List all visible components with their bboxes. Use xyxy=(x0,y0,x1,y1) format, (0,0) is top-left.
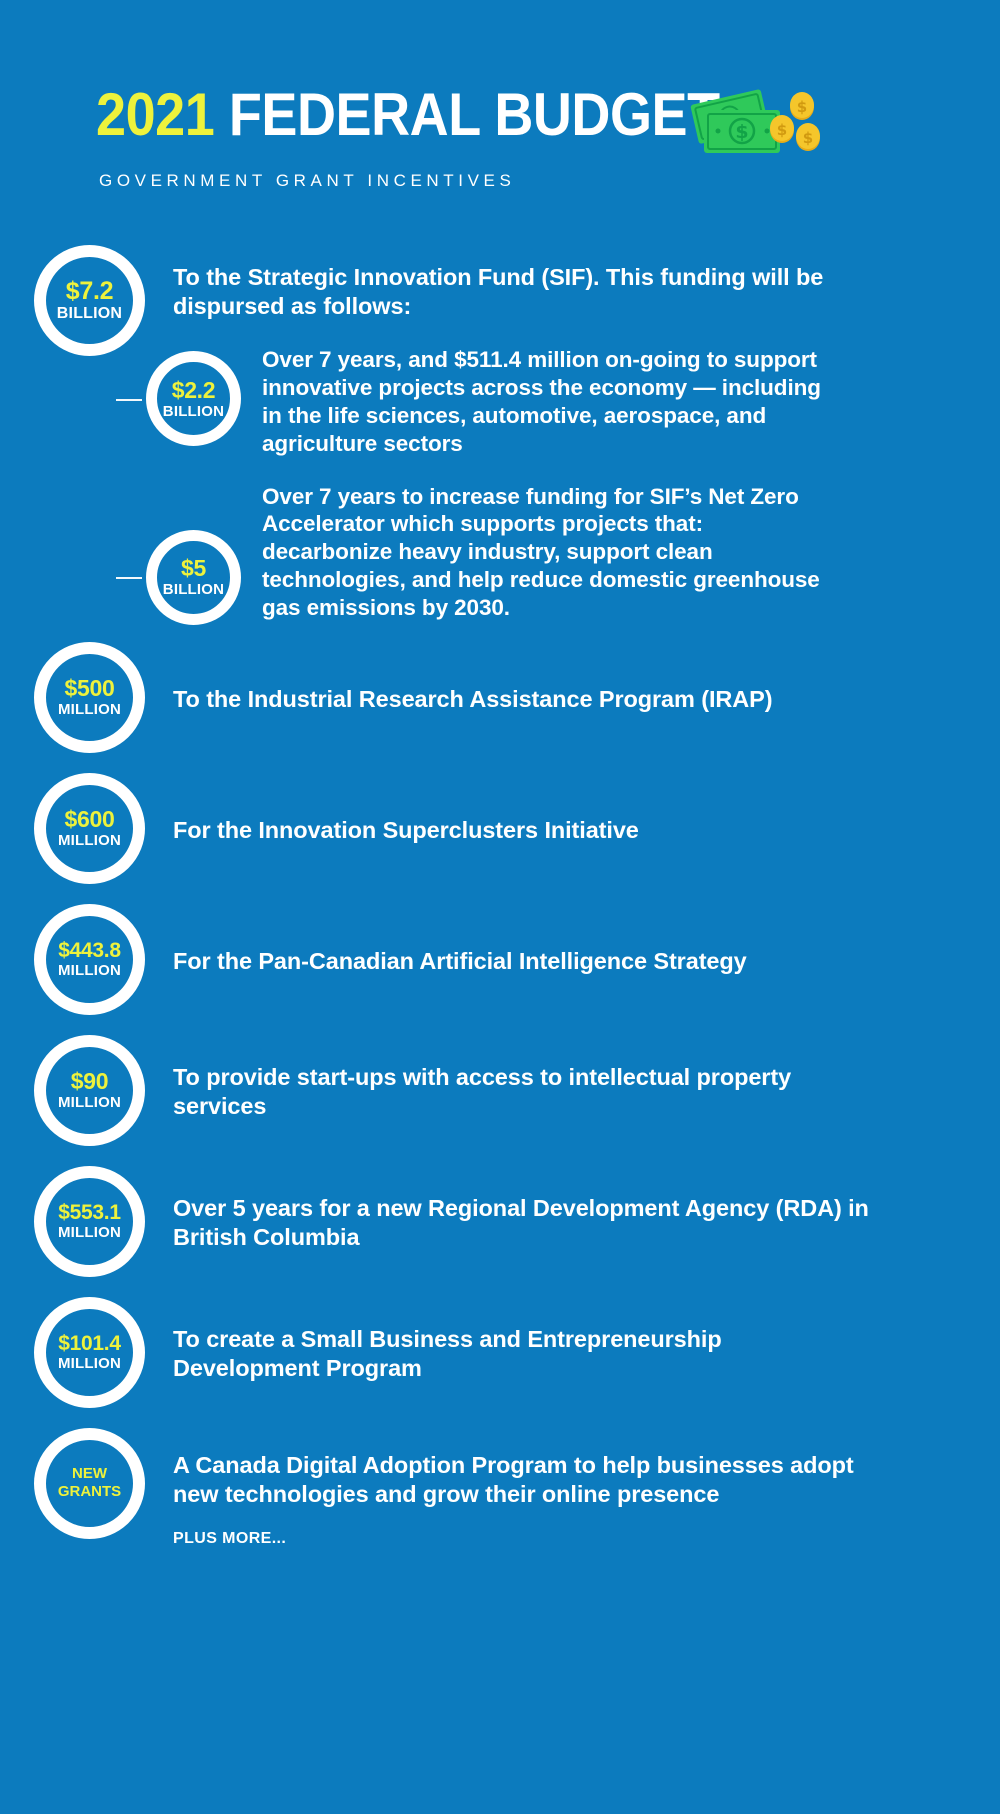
amount-badge: $553.1 MILLION xyxy=(34,1166,145,1277)
amount-badge: $500 MILLION xyxy=(34,642,145,753)
grant-list: $7.2 BILLION To the Strategic Innovation… xyxy=(0,232,1000,1548)
title-rest: FEDERAL BUDGET xyxy=(214,81,719,148)
amount-value: $600 xyxy=(65,808,115,831)
amount-badge: $7.2 BILLION xyxy=(34,245,145,356)
amount-value: $7.2 xyxy=(66,279,113,304)
amount-circle: $500 MILLION xyxy=(34,642,145,753)
amount-value: $90 xyxy=(71,1070,108,1093)
list-item: $443.8 MILLION For the Pan-Canadian Arti… xyxy=(34,904,1000,1015)
amount-circle: $5 BILLION xyxy=(146,530,241,625)
amount-badge: NEW GRANTS xyxy=(34,1428,145,1539)
page-title: 2021 FEDERAL BUDGET xyxy=(96,85,720,145)
amount-badge: $101.4 MILLION xyxy=(34,1297,145,1408)
item-description: To the Strategic Innovation Fund (SIF). … xyxy=(173,263,833,321)
amount-unit: GRANTS xyxy=(58,1483,121,1501)
list-item: $553.1 MILLION Over 5 years for a new Re… xyxy=(34,1166,1000,1277)
page-subtitle: GOVERNMENT GRANT INCENTIVES xyxy=(99,171,515,191)
list-item: $600 MILLION For the Innovation Superclu… xyxy=(34,773,1000,884)
svg-text:$: $ xyxy=(803,129,813,147)
item-description: Over 5 years for a new Regional Developm… xyxy=(173,1194,873,1252)
list-item: $500 MILLION To the Industrial Research … xyxy=(34,642,1000,753)
amount-unit: MILLION xyxy=(58,1095,121,1110)
infographic-page: 2021 FEDERAL BUDGET GOVERNMENT GRANT INC… xyxy=(0,0,1000,1814)
item-description: Over 7 years to increase funding for SIF… xyxy=(262,483,832,622)
amount-badge: $443.8 MILLION xyxy=(34,904,145,1015)
amount-unit: MILLION xyxy=(58,963,121,978)
item-description: To the Industrial Research Assistance Pr… xyxy=(173,685,853,714)
list-item-sub: $5 BILLION Over 7 years to increase fund… xyxy=(146,484,1000,625)
connector-line xyxy=(116,577,142,579)
svg-text:$: $ xyxy=(797,98,807,116)
amount-unit: BILLION xyxy=(57,306,122,322)
svg-text:$: $ xyxy=(735,121,748,143)
amount-circle: $443.8 MILLION xyxy=(34,904,145,1015)
item-description: Over 7 years, and $511.4 million on-goin… xyxy=(262,346,832,458)
connector-line xyxy=(116,399,142,401)
item-description: A Canada Digital Adoption Program to hel… xyxy=(173,1451,873,1509)
amount-circle: $600 MILLION xyxy=(34,773,145,884)
amount-unit: MILLION xyxy=(58,1225,121,1240)
amount-circle: $7.2 BILLION xyxy=(34,245,145,356)
title-year: 2021 xyxy=(96,81,214,148)
amount-circle: $2.2 BILLION xyxy=(146,351,241,446)
item-description: For the Pan-Canadian Artificial Intellig… xyxy=(173,947,863,976)
amount-circle: $101.4 MILLION xyxy=(34,1297,145,1408)
amount-unit: BILLION xyxy=(163,404,224,419)
money-bills-and-coins-icon: $ $ $ $ xyxy=(690,80,820,170)
item-description: To create a Small Business and Entrepren… xyxy=(173,1325,863,1383)
item-description: To provide start-ups with access to inte… xyxy=(173,1063,863,1121)
header: 2021 FEDERAL BUDGET GOVERNMENT GRANT INC… xyxy=(0,0,1000,232)
amount-unit: MILLION xyxy=(58,702,121,717)
list-item: $101.4 MILLION To create a Small Busines… xyxy=(34,1297,1000,1408)
amount-value: $553.1 xyxy=(58,1202,120,1223)
plus-more-label: PLUS MORE... xyxy=(173,1530,873,1548)
amount-value: $5 xyxy=(181,557,206,580)
list-item: NEW GRANTS A Canada Digital Adoption Pro… xyxy=(34,1428,1000,1548)
amount-circle: NEW GRANTS xyxy=(34,1428,145,1539)
amount-value: $2.2 xyxy=(172,379,216,402)
amount-circle: $90 MILLION xyxy=(34,1035,145,1146)
list-item: $90 MILLION To provide start-ups with ac… xyxy=(34,1035,1000,1146)
amount-badge: $90 MILLION xyxy=(34,1035,145,1146)
amount-value: $500 xyxy=(65,677,115,700)
list-item-sub: $2.2 BILLION Over 7 years, and $511.4 mi… xyxy=(146,351,1000,458)
amount-badge: $2.2 BILLION xyxy=(146,351,241,446)
amount-value: $443.8 xyxy=(58,940,120,961)
svg-text:$: $ xyxy=(777,121,787,139)
amount-value: $101.4 xyxy=(58,1333,120,1354)
list-item: $7.2 BILLION To the Strategic Innovation… xyxy=(34,245,1000,356)
amount-circle: $553.1 MILLION xyxy=(34,1166,145,1277)
amount-unit: BILLION xyxy=(163,582,224,597)
amount-value: NEW xyxy=(72,1465,107,1483)
amount-unit: MILLION xyxy=(58,833,121,848)
item-description: For the Innovation Superclusters Initiat… xyxy=(173,816,853,845)
amount-unit: MILLION xyxy=(58,1356,121,1371)
amount-badge: $600 MILLION xyxy=(34,773,145,884)
amount-badge: $5 BILLION xyxy=(146,530,241,625)
